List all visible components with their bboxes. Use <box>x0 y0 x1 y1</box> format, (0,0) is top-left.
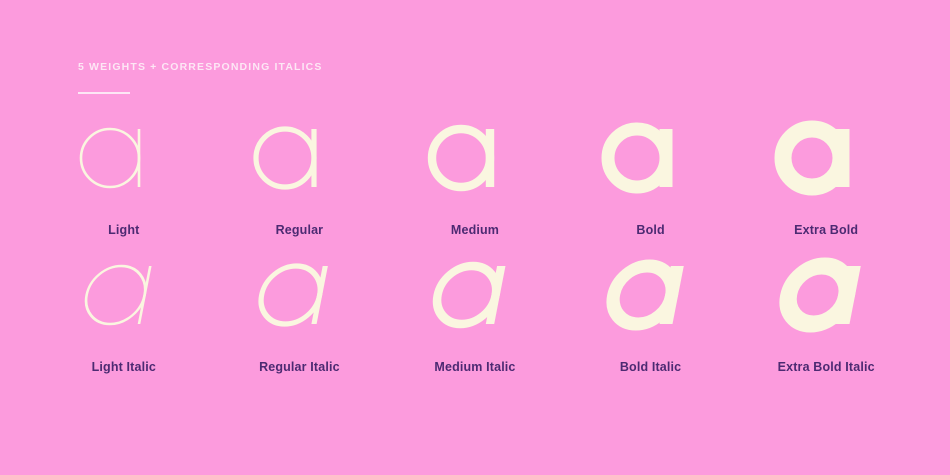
weight-cell-medium[interactable]: Medium <box>387 126 563 263</box>
glyph-sample-bold-italic <box>563 263 739 341</box>
weights-row-italic: Light ItalicRegular ItalicMedium ItalicB… <box>36 263 914 400</box>
glyph-extra-bold-italic <box>778 255 874 341</box>
weight-label-extra-bold-italic: Extra Bold Italic <box>778 360 875 375</box>
glyph-stem <box>841 266 852 324</box>
weight-cell-light[interactable]: Light <box>36 126 212 263</box>
weights-row-upright: LightRegularMediumBoldExtra Bold <box>36 126 914 263</box>
weight-label-regular: Regular <box>276 223 324 238</box>
glyph-sample-light-italic <box>36 263 212 341</box>
glyph-sample-regular <box>212 126 388 204</box>
weight-label-extra-bold: Extra Bold <box>794 223 858 238</box>
glyph-bowl <box>608 129 666 187</box>
weight-cell-regular[interactable]: Regular <box>212 126 388 263</box>
glyph-regular-italic <box>251 255 347 341</box>
glyph-sample-extra-bold <box>738 126 914 204</box>
glyph-bowl <box>783 129 841 187</box>
weight-cell-light-italic[interactable]: Light Italic <box>36 263 212 400</box>
weight-label-light-italic: Light Italic <box>92 360 156 375</box>
weight-cell-bold[interactable]: Bold <box>563 126 739 263</box>
glyph-medium-italic <box>427 255 523 341</box>
specimen-page: 5 WEIGHTS + CORRESPONDING ITALICS LightR… <box>0 0 950 475</box>
title-divider <box>78 92 130 94</box>
glyph-bowl <box>81 129 139 187</box>
weight-cell-regular-italic[interactable]: Regular Italic <box>212 263 388 400</box>
glyph-sample-extra-bold-italic <box>738 263 914 341</box>
weight-label-medium-italic: Medium Italic <box>434 360 515 375</box>
glyph-regular <box>251 118 347 204</box>
glyph-extra-bold <box>778 118 874 204</box>
weight-label-bold-italic: Bold Italic <box>620 360 681 375</box>
glyph-medium <box>427 118 523 204</box>
weight-label-medium: Medium <box>451 223 499 238</box>
glyph-sample-medium-italic <box>387 263 563 341</box>
glyph-bowl <box>432 129 490 187</box>
weight-cell-medium-italic[interactable]: Medium Italic <box>387 263 563 400</box>
glyph-bowl <box>256 129 314 187</box>
glyph-sample-medium <box>387 126 563 204</box>
weight-label-regular-italic: Regular Italic <box>259 360 340 375</box>
glyph-light <box>76 118 172 204</box>
glyph-sample-bold <box>563 126 739 204</box>
glyph-bold <box>603 118 699 204</box>
page-title: 5 WEIGHTS + CORRESPONDING ITALICS <box>78 60 678 74</box>
weight-label-light: Light <box>108 223 139 238</box>
glyph-sample-light <box>36 126 212 204</box>
weight-cell-extra-bold[interactable]: Extra Bold <box>738 126 914 263</box>
weight-label-bold: Bold <box>636 223 664 238</box>
glyph-light-italic <box>76 255 172 341</box>
header: 5 WEIGHTS + CORRESPONDING ITALICS <box>78 60 678 94</box>
weights-grid: LightRegularMediumBoldExtra Bold Light I… <box>36 126 914 416</box>
weight-cell-bold-italic[interactable]: Bold Italic <box>563 263 739 400</box>
weight-cell-extra-bold-italic[interactable]: Extra Bold Italic <box>738 263 914 400</box>
glyph-bold-italic <box>603 255 699 341</box>
glyph-sample-regular-italic <box>212 263 388 341</box>
